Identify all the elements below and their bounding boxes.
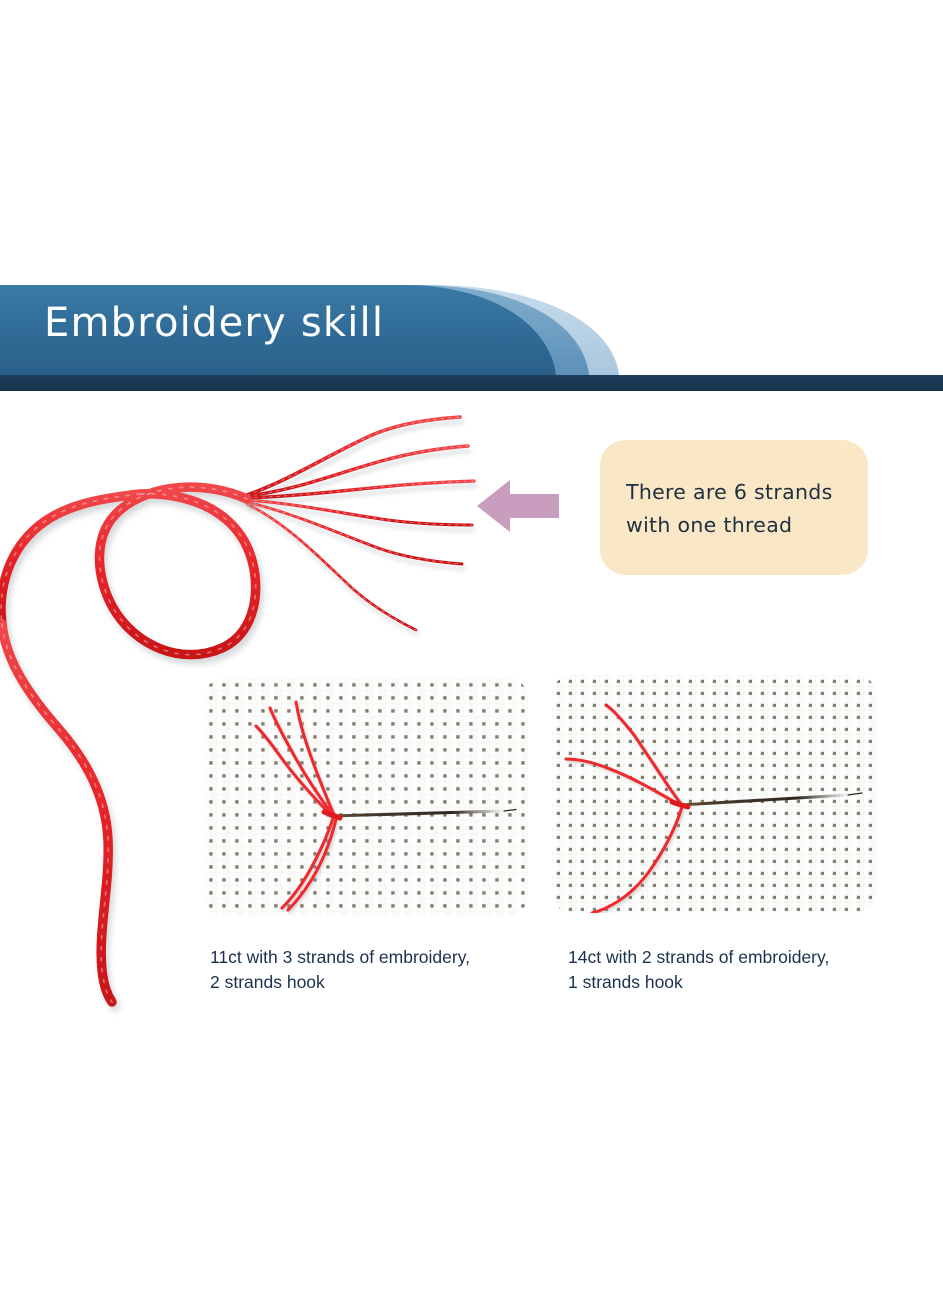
- callout-box: There are 6 strands with one thread: [600, 440, 868, 575]
- aida-cloth-11ct-graphic: [204, 678, 528, 916]
- photo-14ct: [552, 675, 876, 913]
- photo-11ct: [204, 678, 528, 916]
- callout-text-line-2: with one thread: [626, 509, 842, 542]
- arrow-left-shape: [477, 478, 559, 534]
- banner-underbar: [0, 375, 943, 391]
- left-arrow-icon: [477, 478, 559, 534]
- aida-cloth-14ct-graphic: [552, 675, 876, 913]
- page-title: Embroidery skill: [44, 300, 384, 346]
- callout-text-line-1: There are 6 strands: [626, 476, 842, 509]
- caption-14ct: 14ct with 2 strands of embroidery, 1 str…: [568, 945, 898, 995]
- header-banner: Embroidery skill: [0, 285, 943, 391]
- caption-11ct: 11ct with 3 strands of embroidery, 2 str…: [210, 945, 540, 995]
- floss-strands-fan: [247, 417, 474, 630]
